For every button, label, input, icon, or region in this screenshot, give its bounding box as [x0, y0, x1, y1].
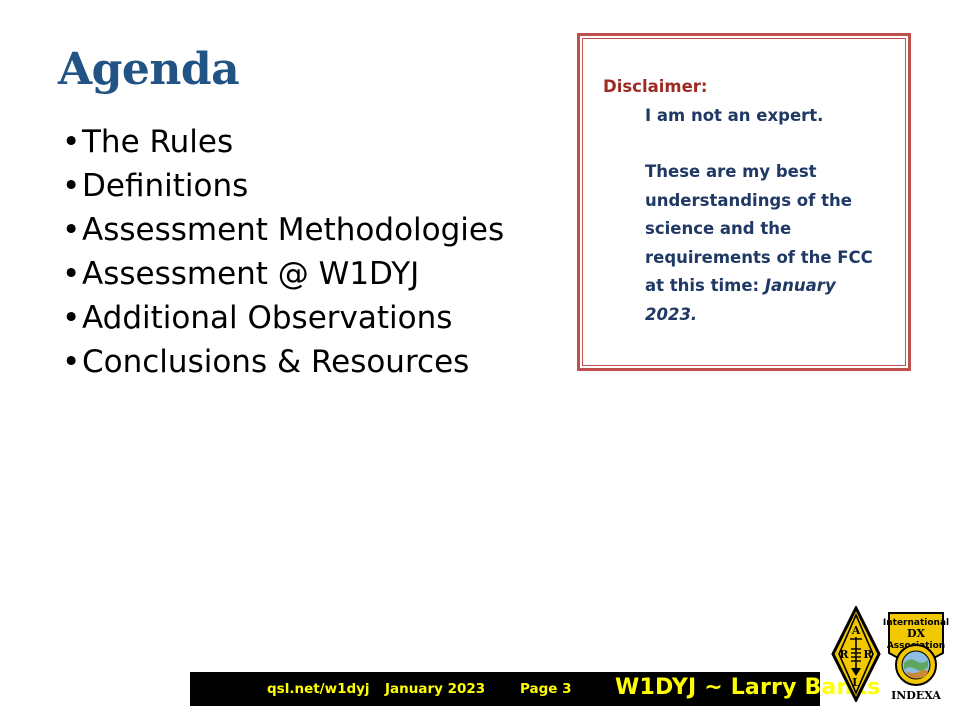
bullet-icon: •	[62, 340, 80, 384]
footer-bar: qsl.net/w1dyj January 2023 Page 3 W1DYJ …	[190, 672, 820, 706]
list-item: • Assessment Methodologies	[60, 208, 580, 252]
list-item: • Conclusions & Resources	[60, 340, 580, 384]
disclaimer-line-2-text: These are my best understandings of the …	[645, 162, 873, 295]
list-item-label: Definitions	[82, 168, 248, 204]
svg-text:R: R	[863, 648, 873, 661]
bullet-icon: •	[62, 252, 80, 296]
list-item-label: Additional Observations	[82, 300, 452, 336]
slide-canvas: Agenda • The Rules • Definitions • Asses…	[0, 0, 960, 720]
bullet-icon: •	[62, 208, 80, 252]
disclaimer-box-inner-border: Disclaimer: I am not an expert. These ar…	[582, 38, 906, 366]
svg-text:A: A	[851, 624, 861, 637]
footer-website-link[interactable]: qsl.net/w1dyj	[267, 681, 370, 697]
disclaimer-line-1: I am not an expert.	[603, 102, 887, 131]
list-item-label: Conclusions & Resources	[82, 344, 469, 380]
bullet-icon: •	[62, 296, 80, 340]
svg-text:R: R	[839, 648, 849, 661]
list-item: • The Rules	[60, 120, 580, 164]
bullet-icon: •	[62, 120, 80, 164]
page-title: Agenda	[58, 48, 239, 92]
disclaimer-label: Disclaimer:	[603, 77, 708, 96]
list-item-label: Assessment @ W1DYJ	[82, 256, 419, 292]
list-item: • Assessment @ W1DYJ	[60, 252, 580, 296]
bullet-icon: •	[62, 164, 80, 208]
list-item-label: The Rules	[82, 124, 233, 160]
svg-text:L: L	[852, 676, 860, 689]
disclaimer-line-2: These are my best understandings of the …	[603, 158, 887, 329]
list-item-label: Assessment Methodologies	[82, 212, 504, 248]
footer-date: January 2023	[385, 681, 485, 697]
disclaimer-box: Disclaimer: I am not an expert. These ar…	[577, 33, 911, 371]
footer-page-number: Page 3	[520, 681, 572, 697]
disclaimer-spacer	[603, 130, 887, 158]
disclaimer-text: Disclaimer: I am not an expert. These ar…	[603, 73, 887, 329]
list-item: • Definitions	[60, 164, 580, 208]
list-item: • Additional Observations	[60, 296, 580, 340]
indexa-shield-logo: International DX Association INDEXA	[879, 609, 953, 703]
svg-text:DX: DX	[907, 627, 926, 640]
agenda-list: • The Rules • Definitions • Assessment M…	[60, 120, 580, 384]
arrl-diamond-logo: A R R L	[831, 606, 881, 702]
indexa-caption: INDEXA	[891, 689, 941, 702]
